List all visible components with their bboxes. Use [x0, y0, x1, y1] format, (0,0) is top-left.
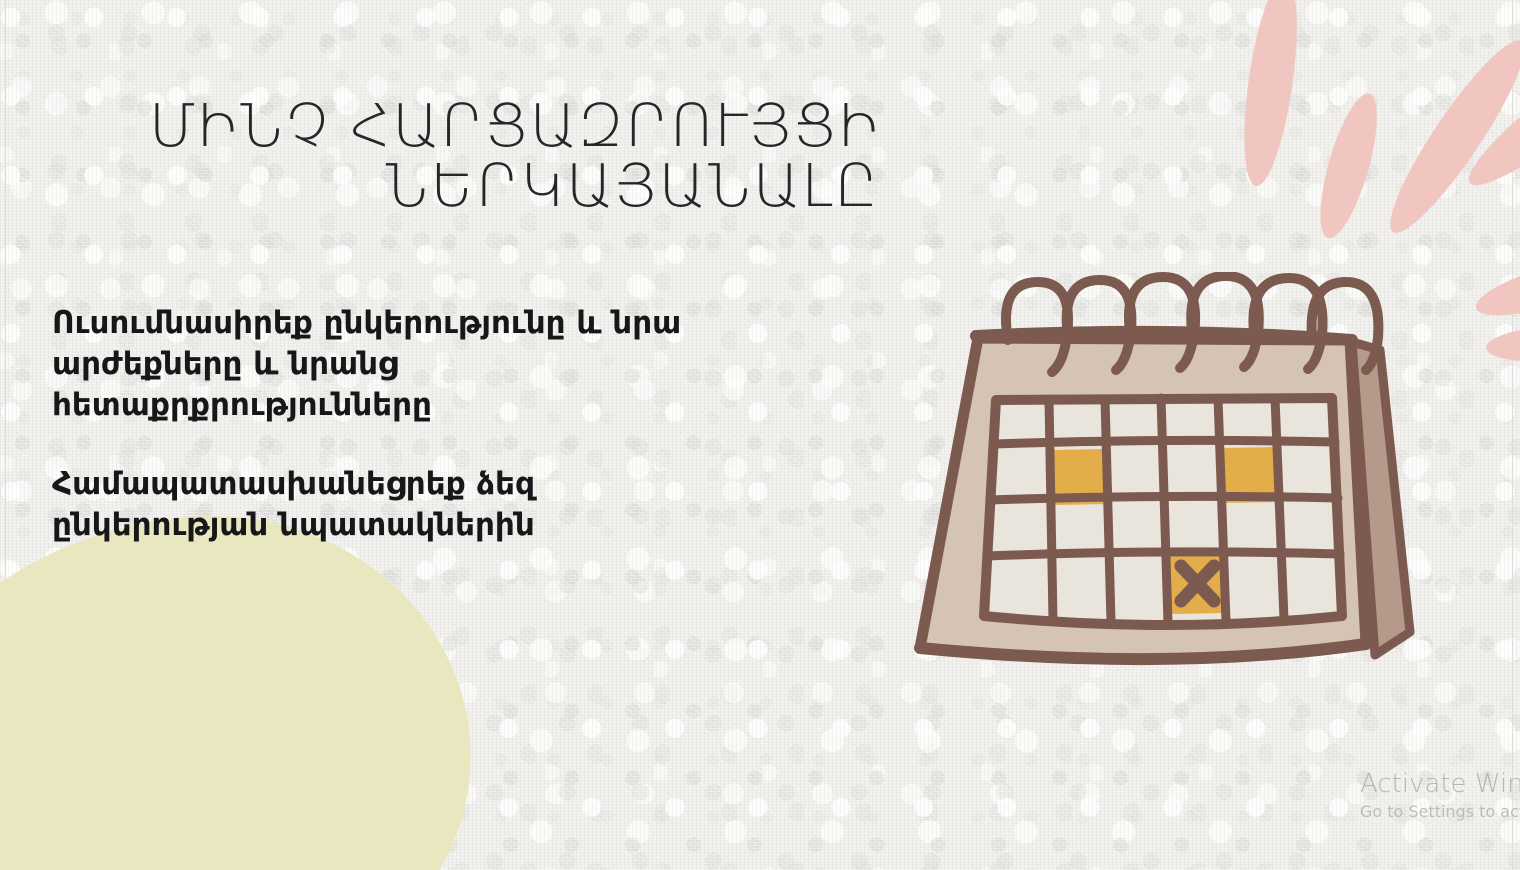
slide-body-text: Ուսումնասիրեք ընկերությունը և նրա արժեքն…	[52, 303, 812, 546]
calendar-illustration	[880, 272, 1460, 682]
grid-vline-1	[1049, 399, 1053, 620]
body-paragraph-2: Համապատասխանեցրեք ձեզ ընկերության նպատակ…	[52, 464, 812, 546]
presentation-slide: ՄԻՆՉ ՀԱՐՑԱԶՐՈՒՅՑԻ ՆԵՐԿԱՅԱՆԱԼԸ Ուսումնասի…	[0, 0, 1520, 870]
body-paragraph-1: Ուսումնասիրեք ընկերությունը և նրա արժեքն…	[52, 303, 812, 426]
calendar-grid	[984, 398, 1342, 625]
slide-left-edge	[5, 0, 6, 870]
grid-vline-2	[1105, 399, 1111, 622]
slide-title: ՄԻՆՉ ՀԱՐՑԱԶՐՈՒՅՑԻ ՆԵՐԿԱՅԱՆԱԼԸ	[90, 96, 880, 216]
calendar-svg	[880, 272, 1460, 682]
slide-right-edge	[1512, 0, 1513, 870]
